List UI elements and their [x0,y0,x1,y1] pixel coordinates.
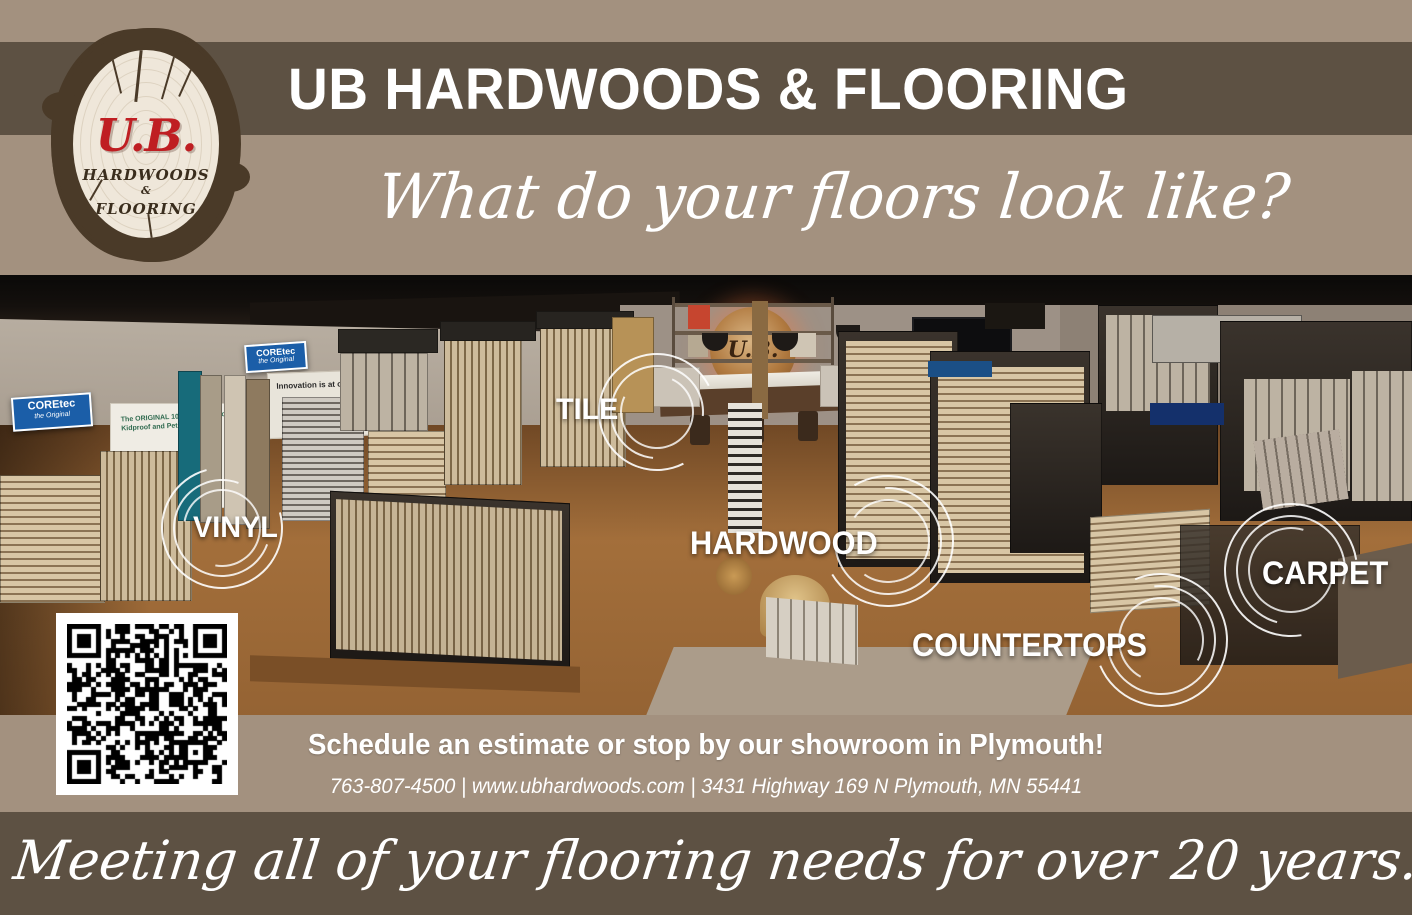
tagline: What do your floors look like? [374,158,1294,236]
logo-initials: U.B. [73,112,219,160]
callout-label-tile: TILE [556,393,618,427]
qr-code-image [67,624,227,784]
coretec-sign-mid: COREtecthe Original [244,341,308,373]
paramount-header-sign [440,321,536,341]
callout-label-carpet: CARPET [1262,555,1388,592]
vinyl-sample-rack [0,475,105,603]
display-brand-strip [928,361,992,377]
photo-chandelier [985,303,1045,329]
photo-shelf-post [831,297,834,373]
logo-line-hardwoods: HARDWOODS [73,166,219,184]
laminate-sign-panel [1010,403,1102,553]
fan-sample-display [766,597,858,665]
round-sample-display [716,557,752,595]
front-display-samples [336,499,562,661]
laminate-swatch-board [340,353,428,431]
photo-shelf-item [688,305,710,329]
wood-sample-rack [444,339,522,485]
paramount-header-sign [338,329,438,353]
laminate-brand-sign [1150,403,1224,425]
coretec-sign-left: COREtecthe Original [11,392,93,431]
callout-label-countertops: COUNTERTOPS [912,627,1147,664]
photo-stool [798,411,818,441]
page-title: UB HARDWOODS & FLOORING [288,56,1128,124]
logo-wood-slice: U.B. HARDWOODS & FLOORING [73,50,219,238]
footer-slogan: Meeting all of your flooring needs for o… [10,828,1402,894]
photo-wood-post [752,301,768,419]
callout-label-vinyl: VINYL [193,511,278,545]
carpet-swatch-board [1352,371,1412,501]
callout-label-hardwood: HARDWOOD [690,525,878,562]
hanging-sample-strip [728,403,762,533]
advertisement-poster: UB HARDWOODS & FLOORING What do your flo… [0,0,1412,915]
logo-line-flooring: FLOORING [73,200,219,218]
company-logo: U.B. HARDWOODS & FLOORING [46,28,246,260]
qr-code[interactable] [56,613,238,795]
logo-line-ampersand: & [73,184,219,197]
carpet-sample-tray [1254,429,1349,510]
